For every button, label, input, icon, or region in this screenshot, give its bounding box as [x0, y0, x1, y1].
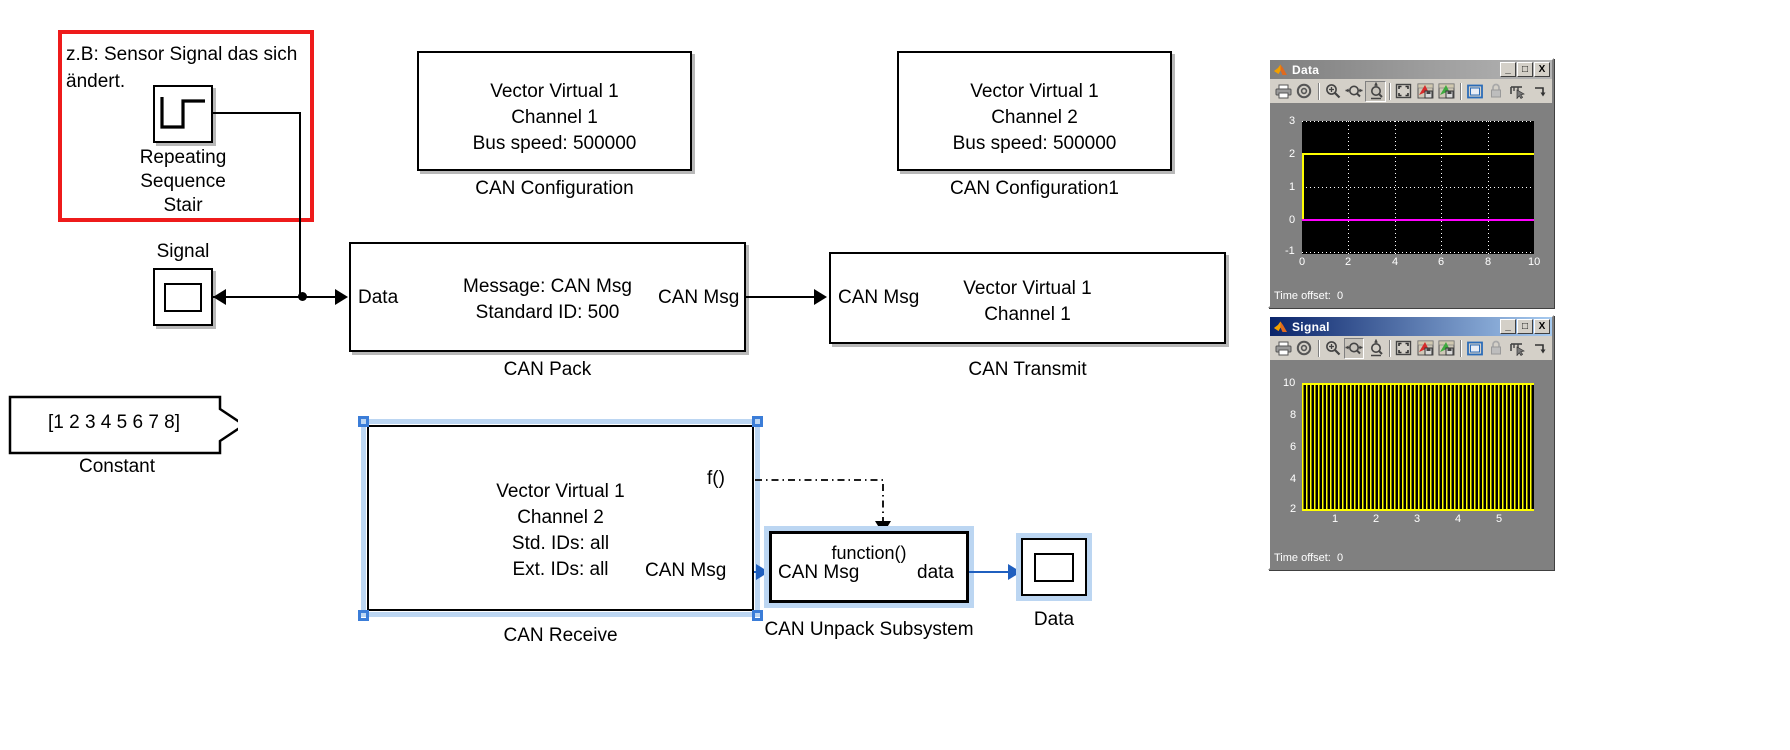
gridline-y-3	[1302, 121, 1534, 122]
scope-window-data-titlebar[interactable]: Data _ □ X	[1270, 60, 1552, 79]
restore-axes-settings-icon[interactable]	[1436, 338, 1456, 359]
matlab-logo-icon	[1273, 320, 1288, 333]
ytick-3: 3	[1289, 115, 1295, 127]
port-label-can-pack-canmsg: CAN Msg	[658, 287, 739, 309]
block-signal-scope[interactable]	[153, 268, 213, 326]
scope-icon	[1034, 553, 1074, 582]
ytick-2: 2	[1290, 503, 1296, 515]
port-label-can-transmit-canmsg: CAN Msg	[838, 287, 919, 309]
block-label-constant: Constant	[8, 455, 226, 479]
print-icon[interactable]	[1273, 338, 1293, 359]
block-label-can-transmit: CAN Transmit	[829, 358, 1226, 382]
block-can-configuration1[interactable]: Vector Virtual 1 Channel 2 Bus speed: 50…	[897, 51, 1172, 171]
ytick-6: 6	[1290, 441, 1296, 453]
signal-selection-icon[interactable]	[1507, 338, 1527, 359]
wire-canpack-to-cantransmit	[746, 296, 816, 298]
zoom-in-icon[interactable]	[1323, 338, 1343, 359]
toolbar-separator	[1460, 340, 1462, 357]
trace-bottom-envelope	[1302, 509, 1534, 511]
scope-window-signal-body[interactable]: 10 8 6 4 2 1 2 3 4 5 Time offset: 0	[1270, 361, 1552, 568]
wire-arrow-can-pack	[335, 289, 348, 305]
zoom-in-icon[interactable]	[1323, 81, 1343, 102]
scope-window-data-status: Time offset: 0	[1270, 289, 1552, 306]
restore-axes-settings-icon[interactable]	[1436, 81, 1456, 102]
ytick-10: 10	[1283, 377, 1295, 389]
data-plot-area[interactable]	[1302, 121, 1534, 254]
print-icon[interactable]	[1273, 81, 1293, 102]
block-label-signal-scope: Signal	[128, 240, 238, 264]
scope-window-signal[interactable]: Signal _ □ X	[1268, 315, 1554, 570]
wire-stair-down	[299, 112, 301, 297]
scope-window-signal-title: Signal	[1292, 320, 1500, 334]
port-label-can-receive-canmsg: CAN Msg	[645, 560, 726, 582]
block-label-can-receive: CAN Receive	[367, 624, 754, 648]
wire-arrow-can-transmit	[814, 289, 827, 305]
xtick-0: 0	[1299, 256, 1305, 268]
selection-handle-top-left[interactable]	[358, 416, 369, 427]
trace-signal-1	[1302, 153, 1534, 155]
trace-top-envelope	[1302, 383, 1534, 385]
xtick-4: 4	[1455, 513, 1461, 525]
trace-signal-1-riser	[1302, 153, 1304, 221]
block-constant[interactable]: [1 2 3 4 5 6 7 8]	[8, 395, 238, 452]
zoom-y-icon[interactable]	[1365, 338, 1385, 359]
wire-arrow-signal-scope	[213, 289, 226, 305]
toolbar-separator	[1389, 83, 1391, 100]
wire-to-can-pack	[299, 296, 337, 298]
autoscale-icon[interactable]	[1394, 81, 1414, 102]
xtick-3: 3	[1414, 513, 1420, 525]
zoom-x-icon[interactable]	[1344, 338, 1365, 359]
block-value-constant: [1 2 3 4 5 6 7 8]	[8, 412, 220, 434]
block-label-can-unpack-subsystem: CAN Unpack Subsystem	[744, 618, 994, 642]
toolbar-separator	[1318, 83, 1320, 100]
block-label-data-scope: Data	[1012, 608, 1096, 632]
port-label-can-receive-fcall: f()	[707, 468, 725, 490]
close-button[interactable]: X	[1534, 62, 1550, 77]
gridline-x-2	[1348, 121, 1349, 254]
block-body-can-configuration1: Vector Virtual 1 Channel 2 Bus speed: 50…	[899, 79, 1170, 157]
block-body-can-configuration: Vector Virtual 1 Channel 1 Bus speed: 50…	[419, 79, 690, 157]
wire-stair-out	[213, 112, 301, 114]
block-can-receive[interactable]: Vector Virtual 1 Channel 2 Std. IDs: all…	[367, 425, 754, 611]
xtick-8: 8	[1485, 256, 1491, 268]
toolbar-separator	[1318, 340, 1320, 357]
xtick-4: 4	[1392, 256, 1398, 268]
scope-window-data-toolbar[interactable]	[1270, 79, 1552, 104]
block-can-configuration[interactable]: Vector Virtual 1 Channel 1 Bus speed: 50…	[417, 51, 692, 171]
scope-window-signal-status: Time offset: 0	[1270, 551, 1552, 568]
port-label-can-pack-data: Data	[358, 287, 398, 309]
trace-repeating-sequence-stair	[1302, 383, 1534, 511]
port-label-unpack-canmsg: CAN Msg	[778, 562, 859, 584]
maximize-button[interactable]: □	[1517, 319, 1533, 334]
scope-window-data-title: Data	[1292, 63, 1500, 77]
matlab-logo-icon	[1273, 63, 1288, 76]
wire-unpack-to-data-scope	[969, 571, 1013, 573]
minimize-button[interactable]: _	[1500, 319, 1516, 334]
lock-axes-icon[interactable]	[1486, 81, 1506, 102]
ytick-2: 2	[1289, 148, 1295, 160]
xtick-6: 6	[1438, 256, 1444, 268]
zoom-y-icon[interactable]	[1365, 81, 1386, 102]
port-label-unpack-data: data	[917, 562, 954, 584]
gridline-x-8	[1488, 121, 1489, 254]
scope-icon	[164, 283, 202, 312]
xtick-2: 2	[1373, 513, 1379, 525]
trace-signal-2	[1302, 219, 1534, 221]
wire-to-signal-scope	[213, 296, 301, 298]
autoscale-icon[interactable]	[1394, 338, 1414, 359]
gridline-x-6	[1441, 121, 1442, 254]
toolbar-separator	[1460, 83, 1462, 100]
block-data-scope[interactable]	[1021, 538, 1087, 596]
ytick-1: 1	[1289, 181, 1295, 193]
ytick--1: -1	[1285, 245, 1295, 257]
block-label-repeating-sequence-stair: Repeating Sequence Stair	[118, 146, 248, 218]
parameters-gear-icon[interactable]	[1294, 338, 1314, 359]
scope-window-data-body[interactable]: 3 2 1 0 -1 0 2 4 6 8 10 Time offset: 0	[1270, 104, 1552, 306]
detach-icon[interactable]	[1529, 338, 1549, 359]
scope-window-signal-titlebar[interactable]: Signal _ □ X	[1270, 317, 1552, 336]
block-label-can-configuration1: CAN Configuration1	[897, 177, 1172, 201]
xtick-1: 1	[1332, 513, 1338, 525]
scope-window-data[interactable]: Data _ □ X	[1268, 58, 1554, 308]
xtick-2: 2	[1345, 256, 1351, 268]
parameters-gear-icon[interactable]	[1294, 81, 1314, 102]
gridline-y--1	[1302, 252, 1534, 253]
lock-axes-icon[interactable]	[1486, 338, 1506, 359]
selection-handle-top-right[interactable]	[752, 416, 763, 427]
selection-handle-bottom-left[interactable]	[358, 610, 369, 621]
detach-icon[interactable]	[1529, 81, 1549, 102]
save-axes-settings-icon[interactable]	[1415, 81, 1435, 102]
gridline-x-4	[1395, 121, 1396, 254]
stair-step-icon	[155, 87, 211, 141]
signal-selection-icon[interactable]	[1507, 81, 1527, 102]
block-repeating-sequence-stair[interactable]	[153, 85, 213, 143]
floating-scope-icon[interactable]	[1465, 81, 1485, 102]
close-button[interactable]: X	[1534, 319, 1550, 334]
toolbar-separator	[1389, 340, 1391, 357]
ytick-8: 8	[1290, 409, 1296, 421]
minimize-button[interactable]: _	[1500, 62, 1516, 77]
ytick-0: 0	[1289, 214, 1295, 226]
xtick-10: 10	[1528, 256, 1540, 268]
floating-scope-icon[interactable]	[1465, 338, 1485, 359]
zoom-x-icon[interactable]	[1344, 81, 1364, 102]
gridline-y-1	[1302, 187, 1534, 188]
save-axes-settings-icon[interactable]	[1415, 338, 1435, 359]
maximize-button[interactable]: □	[1517, 62, 1533, 77]
block-label-can-configuration: CAN Configuration	[417, 177, 692, 201]
ytick-4: 4	[1290, 473, 1296, 485]
simulink-model-canvas[interactable]: z.B: Sensor Signal das sich ändert. Repe…	[0, 0, 1790, 750]
xtick-5: 5	[1496, 513, 1502, 525]
scope-window-signal-toolbar[interactable]	[1270, 336, 1552, 361]
signal-plot-area[interactable]	[1302, 383, 1534, 511]
block-label-can-pack: CAN Pack	[349, 358, 746, 382]
